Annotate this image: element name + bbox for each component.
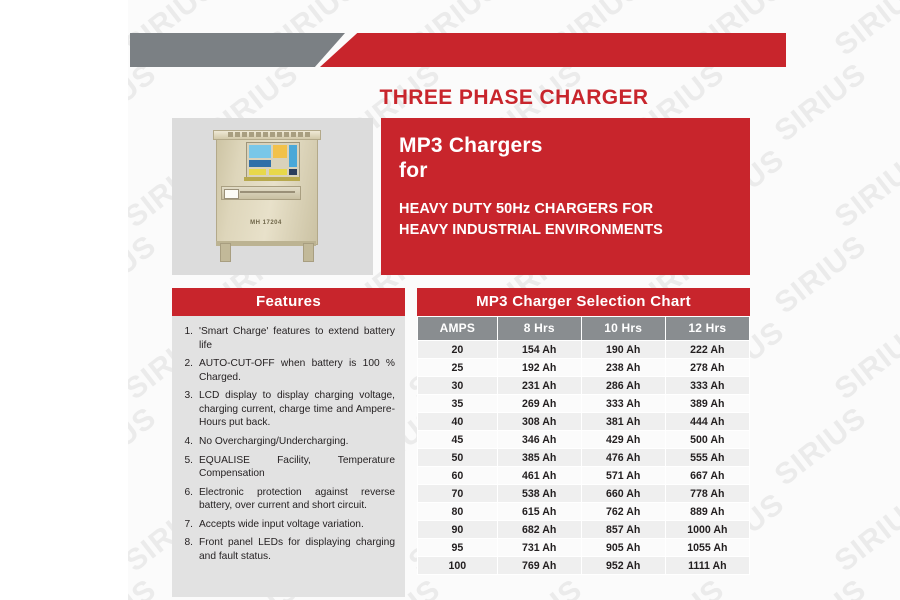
selection-chart-title: MP3 Charger Selection Chart <box>417 288 750 316</box>
table-cell: 100 <box>418 557 497 574</box>
top-banner <box>130 33 786 67</box>
table-cell: 20 <box>418 341 497 358</box>
watermark-text: SIRIUS <box>485 573 589 600</box>
table-row: 40308 Ah381 Ah444 Ah <box>418 413 749 430</box>
table-cell: 571 Ah <box>582 467 665 484</box>
feature-item: 3.LCD display to display charging voltag… <box>180 389 395 430</box>
feature-item: 4.No Overcharging/Undercharging. <box>180 435 395 449</box>
cabinet-top <box>213 130 321 140</box>
table-cell: 154 Ah <box>498 341 581 358</box>
cabinet-leg-right <box>303 243 314 262</box>
nameplate-logo-icon <box>224 189 239 199</box>
feature-number: 2. <box>180 357 193 384</box>
lcd-bar-icon <box>249 160 271 167</box>
table-cell: 769 Ah <box>498 557 581 574</box>
table-cell: 333 Ah <box>582 395 665 412</box>
column-header: 10 Hrs <box>582 317 665 340</box>
table-cell: 682 Ah <box>498 521 581 538</box>
feature-item: 6.Electronic protection against reverse … <box>180 486 395 513</box>
hero-headline-panel: MP3 Chargers for HEAVY DUTY 50Hz CHARGER… <box>381 118 750 275</box>
charger-cabinet-illustration: MH 17204 <box>210 128 328 260</box>
watermark-text: SIRIUS <box>829 315 900 407</box>
table-cell: 857 Ah <box>582 521 665 538</box>
column-header: 8 Hrs <box>498 317 581 340</box>
table-cell: 385 Ah <box>498 449 581 466</box>
hero-headline-line1: MP3 Chargers <box>399 134 750 159</box>
table-cell: 461 Ah <box>498 467 581 484</box>
table-cell: 286 Ah <box>582 377 665 394</box>
banner-red-segment <box>320 33 786 67</box>
table-cell: 762 Ah <box>582 503 665 520</box>
meter-strip-icon <box>289 145 297 167</box>
table-cell: 667 Ah <box>666 467 749 484</box>
table-cell: 381 Ah <box>582 413 665 430</box>
display-screen-icon <box>249 145 271 158</box>
table-cell: 538 Ah <box>498 485 581 502</box>
table-row: 70538 Ah660 Ah778 Ah <box>418 485 749 502</box>
control-panel <box>246 142 300 178</box>
table-cell: 60 <box>418 467 497 484</box>
feature-number: 1. <box>180 325 193 352</box>
table-cell: 222 Ah <box>666 341 749 358</box>
table-row: 50385 Ah476 Ah555 Ah <box>418 449 749 466</box>
feature-text: LCD display to display charging voltage,… <box>199 389 395 430</box>
feature-number: 5. <box>180 454 193 481</box>
watermark-text: SIRIUS <box>769 573 873 600</box>
watermark-text: SIRIUS <box>128 573 163 600</box>
led-row-right-icon <box>269 169 287 175</box>
features-panel: Features 1.'Smart Charge' features to ex… <box>172 288 405 597</box>
watermark-row: SIRIUSSIRIUSSIRIUSSIRIUSSIRIUSSIRIUSSIRI… <box>128 0 900 34</box>
socket-icon <box>289 169 297 175</box>
table-cell: 25 <box>418 359 497 376</box>
table-cell: 476 Ah <box>582 449 665 466</box>
indicator-block-icon <box>273 145 287 158</box>
table-cell: 308 Ah <box>498 413 581 430</box>
watermark-text: SIRIUS <box>769 401 873 493</box>
led-row-left-icon <box>249 169 266 175</box>
cabinet-vents-icon <box>228 132 310 137</box>
feature-number: 8. <box>180 536 193 563</box>
table-cell: 555 Ah <box>666 449 749 466</box>
table-row: 95731 Ah905 Ah1055 Ah <box>418 539 749 556</box>
table-cell: 192 Ah <box>498 359 581 376</box>
feature-item: 2.AUTO-CUT-OFF when battery is 100 % Cha… <box>180 357 395 384</box>
feature-text: Electronic protection against reverse ba… <box>199 486 395 513</box>
table-cell: 90 <box>418 521 497 538</box>
watermark-text: SIRIUS <box>829 0 900 63</box>
table-row: 30231 Ah286 Ah333 Ah <box>418 377 749 394</box>
table-cell: 731 Ah <box>498 539 581 556</box>
table-cell: 952 Ah <box>582 557 665 574</box>
page-title: THREE PHASE CHARGER <box>128 86 900 110</box>
table-cell: 500 Ah <box>666 431 749 448</box>
column-header: AMPS <box>418 317 497 340</box>
feature-number: 6. <box>180 486 193 513</box>
table-cell: 429 Ah <box>582 431 665 448</box>
table-row: 20154 Ah190 Ah222 Ah <box>418 341 749 358</box>
hero-subheadline: HEAVY DUTY 50Hz CHARGERS FOR HEAVY INDUS… <box>399 199 750 241</box>
selection-chart-table: AMPS8 Hrs10 Hrs12 Hrs 20154 Ah190 Ah222 … <box>417 316 750 575</box>
table-cell: 389 Ah <box>666 395 749 412</box>
watermark-text: SIRIUS <box>128 401 163 493</box>
feature-text: No Overcharging/Undercharging. <box>199 435 395 449</box>
table-cell: 660 Ah <box>582 485 665 502</box>
table-cell: 1111 Ah <box>666 557 749 574</box>
cabinet-marking: MH 17204 <box>210 220 322 226</box>
cabinet-leg-left <box>220 243 231 262</box>
watermark-text: SIRIUS <box>627 573 731 600</box>
table-cell: 905 Ah <box>582 539 665 556</box>
table-cell: 35 <box>418 395 497 412</box>
table-cell: 778 Ah <box>666 485 749 502</box>
hero-subheadline-line1: HEAVY DUTY 50Hz CHARGERS FOR <box>399 199 750 220</box>
feature-item: 1.'Smart Charge' features to extend batt… <box>180 325 395 352</box>
table-row: 90682 Ah857 Ah1000 Ah <box>418 521 749 538</box>
hero-section: MH 17204 MP3 Chargers for HEAVY DUTY 50H… <box>172 118 750 275</box>
cabinet-base <box>216 241 316 246</box>
table-cell: 80 <box>418 503 497 520</box>
table-cell: 333 Ah <box>666 377 749 394</box>
feature-text: EQUALISE Facility, Temperature Compensat… <box>199 454 395 481</box>
table-cell: 1055 Ah <box>666 539 749 556</box>
hero-subheadline-line2: HEAVY INDUSTRIAL ENVIRONMENTS <box>399 220 750 241</box>
table-header-row: AMPS8 Hrs10 Hrs12 Hrs <box>418 317 749 340</box>
table-cell: 269 Ah <box>498 395 581 412</box>
table-cell: 889 Ah <box>666 503 749 520</box>
feature-text: AUTO-CUT-OFF when battery is 100 % Charg… <box>199 357 395 384</box>
table-row: 25192 Ah238 Ah278 Ah <box>418 359 749 376</box>
feature-number: 3. <box>180 389 193 430</box>
feature-item: 7.Accepts wide input voltage variation. <box>180 518 395 532</box>
feature-text: Accepts wide input voltage variation. <box>199 518 395 532</box>
feature-text: Front panel LEDs for displaying charging… <box>199 536 395 563</box>
feature-number: 7. <box>180 518 193 532</box>
table-row: 80615 Ah762 Ah889 Ah <box>418 503 749 520</box>
table-cell: 615 Ah <box>498 503 581 520</box>
table-cell: 346 Ah <box>498 431 581 448</box>
feature-number: 4. <box>180 435 193 449</box>
watermark-text: SIRIUS <box>128 229 163 321</box>
table-cell: 278 Ah <box>666 359 749 376</box>
features-list: 1.'Smart Charge' features to extend batt… <box>172 316 405 597</box>
table-cell: 238 Ah <box>582 359 665 376</box>
table-cell: 30 <box>418 377 497 394</box>
nameplate <box>221 186 301 200</box>
table-cell: 1000 Ah <box>666 521 749 538</box>
table-row: 45346 Ah429 Ah500 Ah <box>418 431 749 448</box>
banner-gray-segment <box>130 33 345 67</box>
features-title: Features <box>172 288 405 316</box>
table-row: 60461 Ah571 Ah667 Ah <box>418 467 749 484</box>
table-row: 35269 Ah333 Ah389 Ah <box>418 395 749 412</box>
panel-label-strip <box>244 177 300 181</box>
watermark-text: SIRIUS <box>829 143 900 235</box>
table-cell: 95 <box>418 539 497 556</box>
feature-item: 8.Front panel LEDs for displaying chargi… <box>180 536 395 563</box>
watermark-text: SIRIUS <box>769 229 873 321</box>
table-cell: 70 <box>418 485 497 502</box>
hero-headline-line2: for <box>399 159 750 184</box>
feature-text: 'Smart Charge' features to extend batter… <box>199 325 395 352</box>
watermark-text: SIRIUS <box>829 487 900 579</box>
table-cell: 190 Ah <box>582 341 665 358</box>
column-header: 12 Hrs <box>666 317 749 340</box>
table-cell: 231 Ah <box>498 377 581 394</box>
product-image: MH 17204 <box>172 118 373 275</box>
selection-chart-panel: MP3 Charger Selection Chart AMPS8 Hrs10 … <box>417 288 750 575</box>
nameplate-text-line <box>240 191 295 193</box>
table-row: 100769 Ah952 Ah1111 Ah <box>418 557 749 574</box>
table-cell: 50 <box>418 449 497 466</box>
datasheet-page: SIRIUSSIRIUSSIRIUSSIRIUSSIRIUSSIRIUSSIRI… <box>0 0 900 600</box>
table-cell: 40 <box>418 413 497 430</box>
table-cell: 45 <box>418 431 497 448</box>
table-cell: 444 Ah <box>666 413 749 430</box>
feature-item: 5.EQUALISE Facility, Temperature Compens… <box>180 454 395 481</box>
